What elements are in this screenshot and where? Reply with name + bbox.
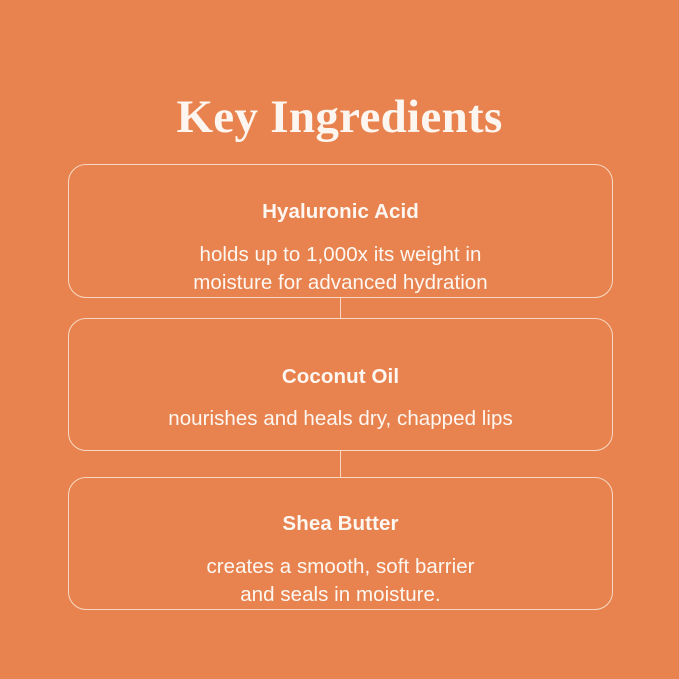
connector-line-2 <box>340 451 341 477</box>
ingredient-name-coconut-oil: Coconut Oil <box>97 364 584 390</box>
ingredient-name-shea-butter: Shea Butter <box>97 511 584 537</box>
ingredient-card-stack: Hyaluronic Acid holds up to 1,000x its w… <box>68 164 613 610</box>
page-title: Key Ingredients <box>0 89 679 145</box>
ingredient-card-hyaluronic-acid: Hyaluronic Acid holds up to 1,000x its w… <box>68 164 613 298</box>
ingredient-card-coconut-oil: Coconut Oil nourishes and heals dry, cha… <box>68 318 613 451</box>
ingredient-description-shea-butter: creates a smooth, soft barrier and seals… <box>97 553 584 609</box>
ingredient-description-coconut-oil: nourishes and heals dry, chapped lips <box>97 405 584 433</box>
ingredient-name-hyaluronic-acid: Hyaluronic Acid <box>97 199 584 225</box>
connector-line-1 <box>340 298 341 318</box>
ingredient-description-hyaluronic-acid: holds up to 1,000x its weight in moistur… <box>97 241 584 297</box>
key-ingredients-infographic: Key Ingredients Hyaluronic Acid holds up… <box>0 0 679 679</box>
ingredient-card-shea-butter: Shea Butter creates a smooth, soft barri… <box>68 477 613 610</box>
